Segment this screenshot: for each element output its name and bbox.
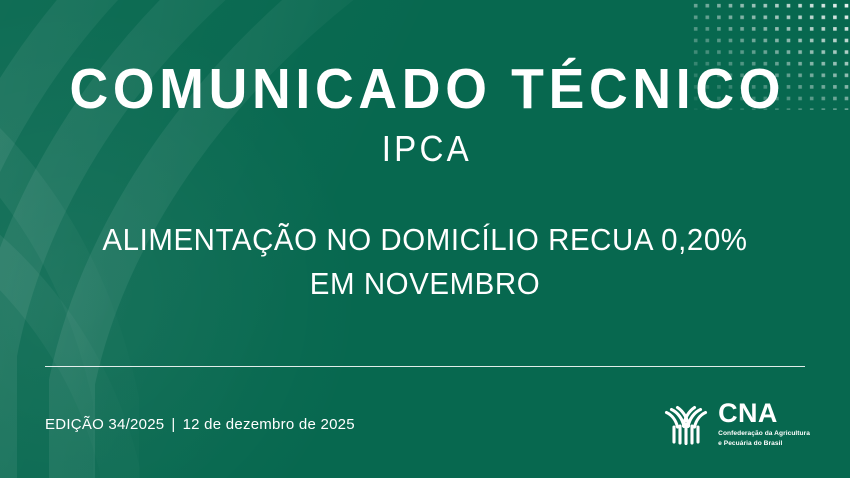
edition-label: EDIÇÃO 34/2025 [45, 416, 164, 433]
headline-line-2: EM NOVEMBRO [78, 262, 772, 306]
headline-line-1: ALIMENTAÇÃO NO DOMICÍLIO RECUA 0,20% [78, 218, 772, 262]
comunicado-banner: COMUNICADO TÉCNICO IPCA ALIMENTAÇÃO NO D… [0, 0, 850, 478]
cna-wordmark-block: CNA Confederação da Agricultura e Pecuár… [718, 400, 810, 449]
divider-rule [45, 366, 805, 367]
page-subtitle: IPCA [34, 129, 816, 169]
cna-tagline-line-1: Confederação da Agricultura [718, 430, 810, 439]
footer-bar: EDIÇÃO 34/2025|12 de dezembro de 2025 [45, 398, 810, 450]
headline-block: ALIMENTAÇÃO NO DOMICÍLIO RECUA 0,20% EM … [60, 218, 790, 306]
cna-tagline-line-2: e Pecuária do Brasil [718, 440, 810, 449]
cna-plant-mark-icon [663, 402, 709, 446]
page-title: COMUNICADO TÉCNICO [26, 60, 825, 119]
edition-separator: | [164, 416, 182, 433]
title-block: COMUNICADO TÉCNICO IPCA [0, 60, 850, 169]
edition-info: EDIÇÃO 34/2025|12 de dezembro de 2025 [45, 416, 355, 433]
edition-date: 12 de dezembro de 2025 [183, 416, 355, 433]
cna-logo: CNA Confederação da Agricultura e Pecuár… [663, 400, 810, 449]
cna-wordmark: CNA [718, 400, 810, 427]
banner-content: COMUNICADO TÉCNICO IPCA ALIMENTAÇÃO NO D… [0, 0, 850, 478]
